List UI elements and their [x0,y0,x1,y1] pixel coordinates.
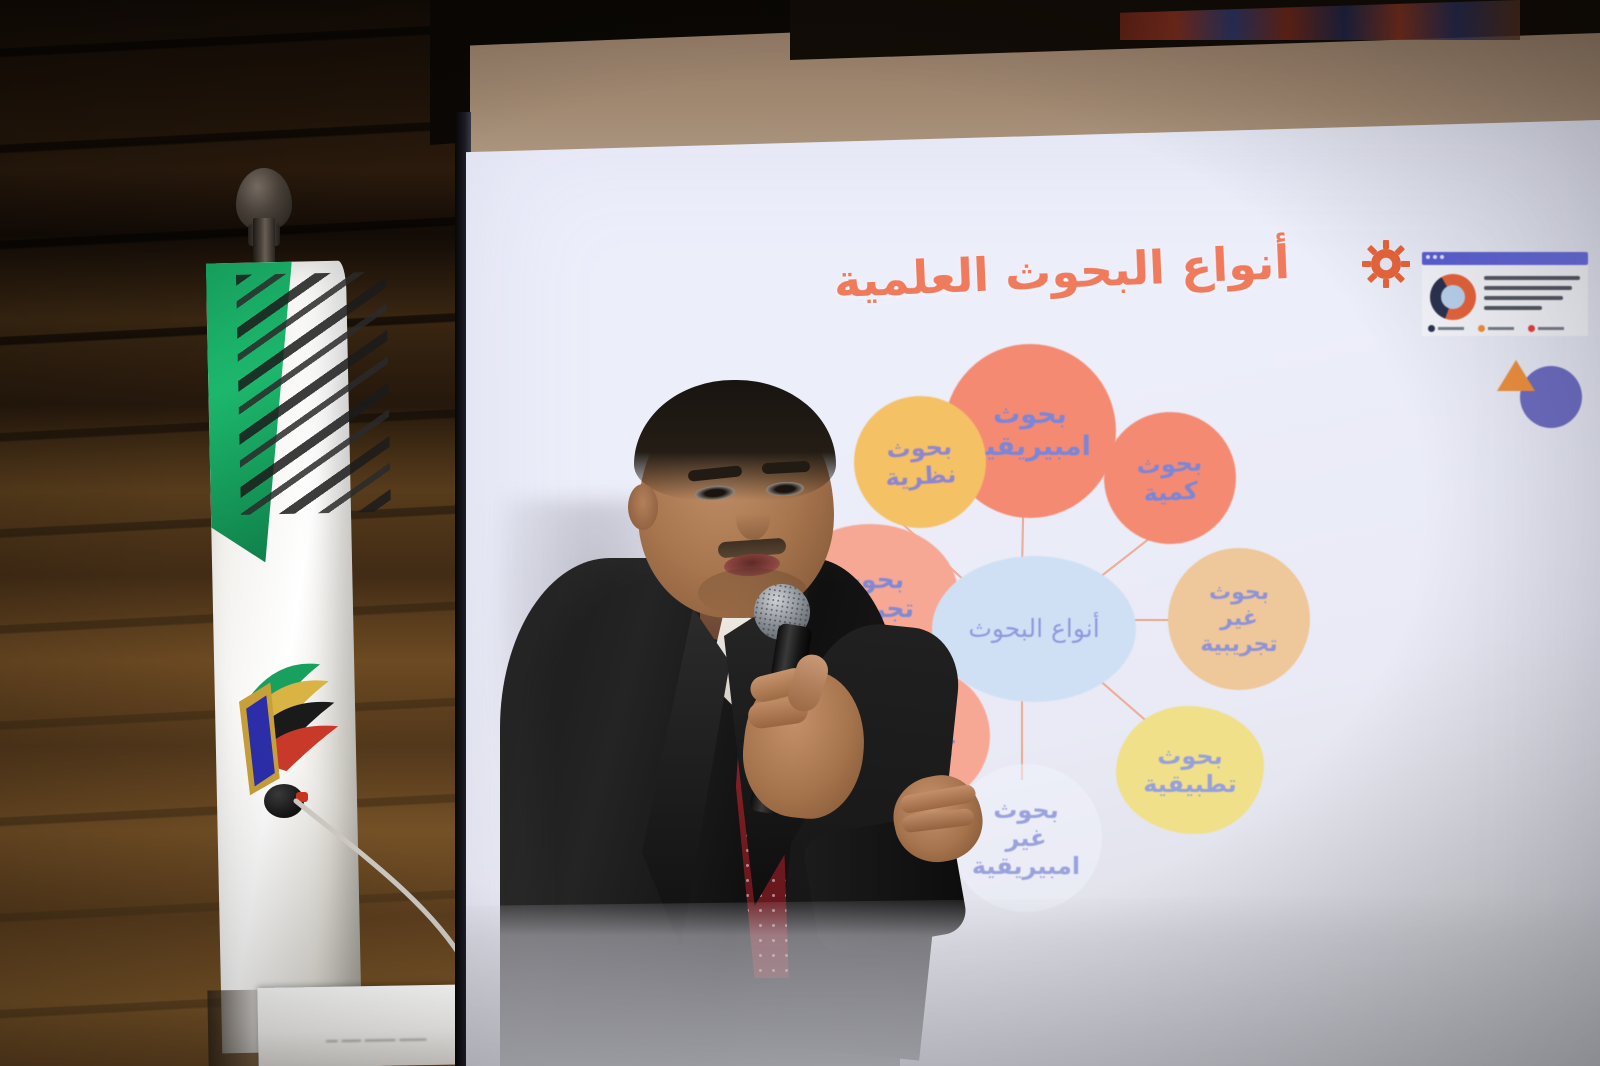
dashboard-mock-card [1422,252,1588,336]
screen-lower-gradient [466,892,1600,1066]
microphone-gooseneck [290,795,480,1005]
bubble-center-research-types: أنواع البحوث [932,556,1136,702]
gear-icon [1362,240,1410,288]
bubble-center-label: أنواع البحوث [968,614,1099,644]
bubble-quantitative-label: بحوث كمية [1136,448,1204,508]
bubble-non-empirical-label: بحوث غير امبيريقية [972,796,1080,881]
legend-item-3 [1528,325,1564,332]
speaker-hair [634,380,836,500]
legend-item-1 [1428,325,1464,332]
window-dots [1426,255,1444,259]
photo-scene: ـــــــ ــــــــ ـــــ ـــ أنواع البحوث … [0,0,1600,1066]
dashboard-title-bar [1422,252,1588,265]
bubble-empirical-label: بحوث امبيريقية [969,399,1091,463]
speaker-ear [628,484,658,530]
donut-chart-icon [1430,274,1476,320]
triangle-shape [1497,360,1535,391]
flag-dark-stripes [236,272,391,515]
speaker-nose [736,496,770,540]
legend-item-2 [1478,325,1514,332]
bubble-non-experimental-label: بحوث غير تجريبية [1200,580,1277,658]
dashboard-text-lines [1484,276,1580,316]
bubble-applied: بحوث تطبيقية [1116,706,1264,834]
dashboard-legend [1428,325,1564,332]
bubble-non-experimental: بحوث غير تجريبية [1168,548,1310,690]
bubble-applied-label: بحوث تطبيقية [1143,742,1237,799]
